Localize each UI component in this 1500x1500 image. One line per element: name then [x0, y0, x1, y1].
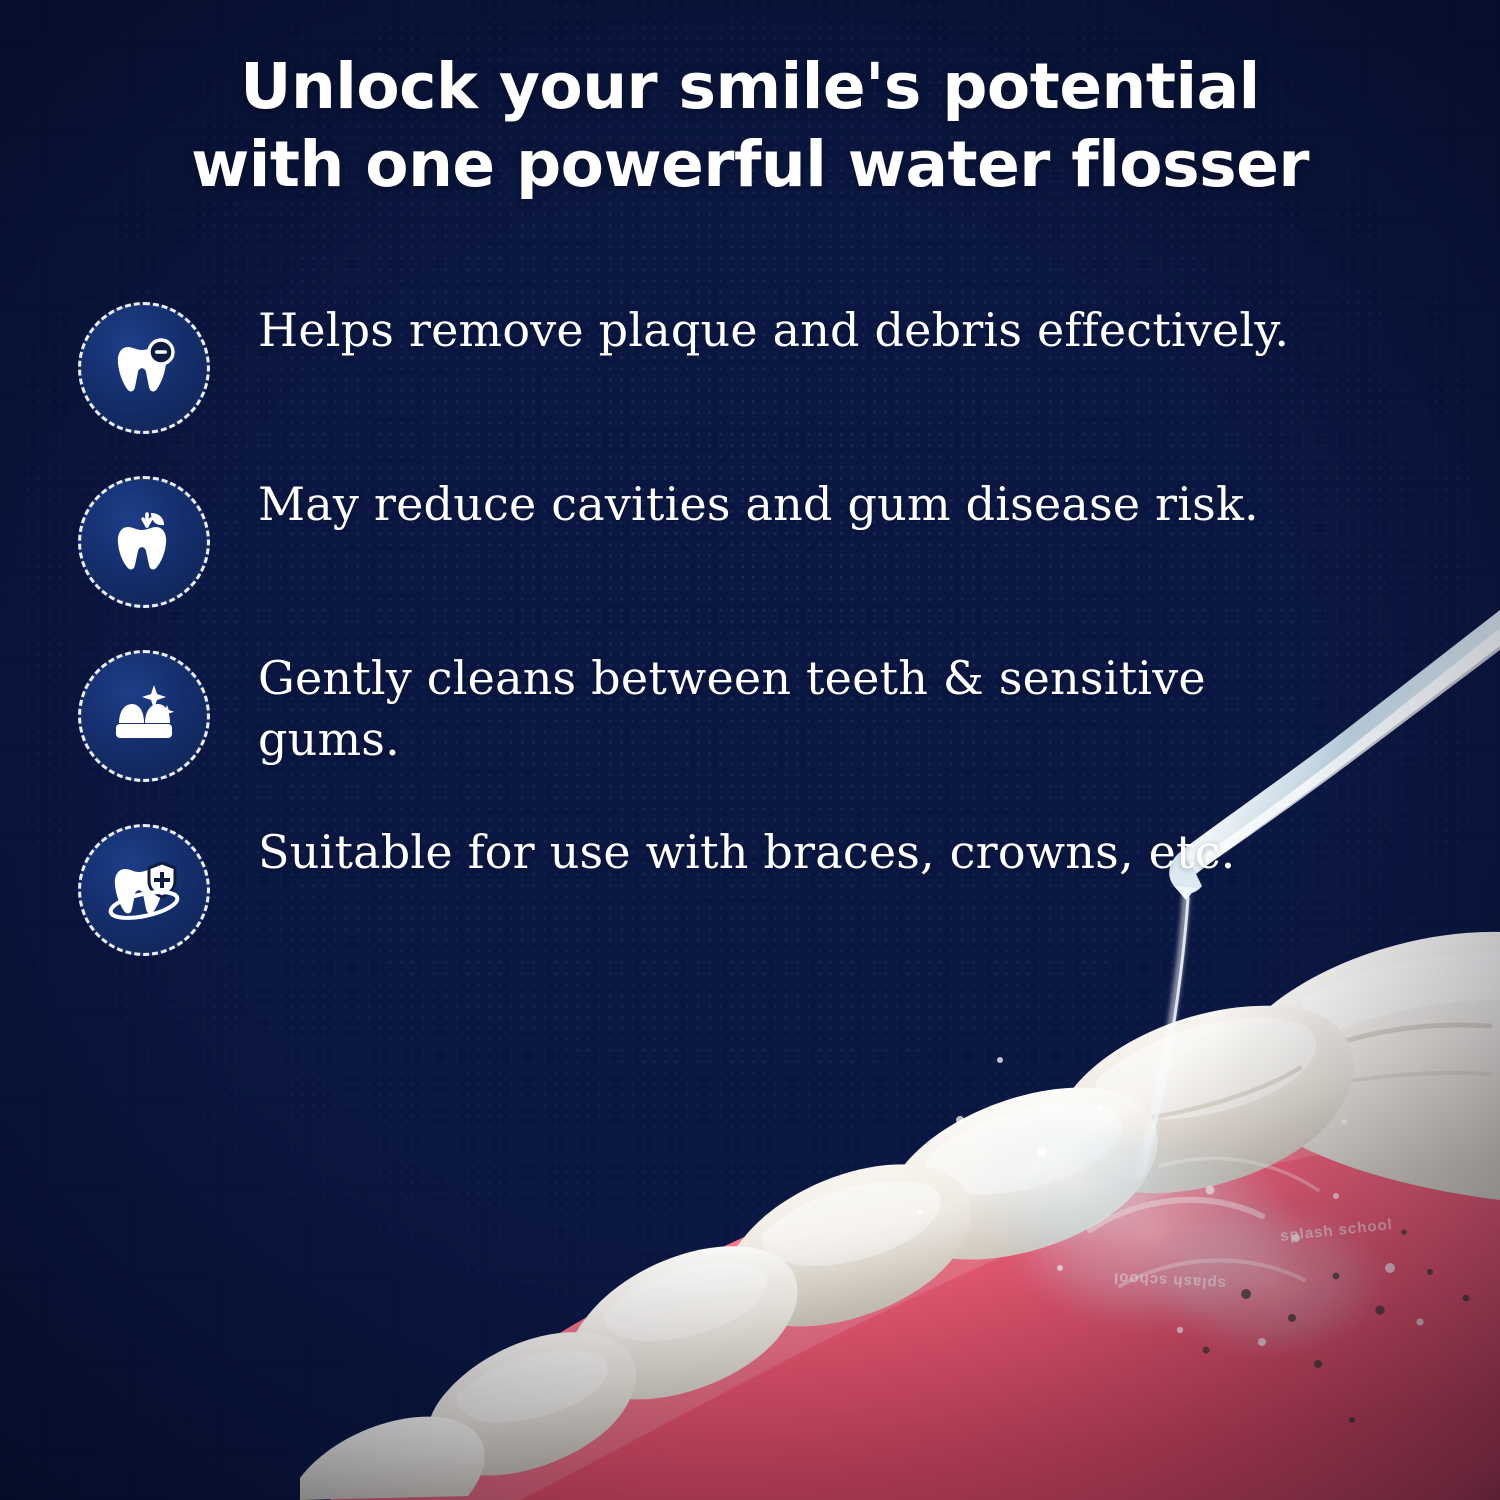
feature-label: Gently cleans between teeth & sensitive …	[258, 648, 1358, 770]
watermark-text: splash school	[1113, 1269, 1227, 1292]
page-title: Unlock your smile's potential with one p…	[0, 48, 1500, 204]
headline-line-2: with one powerful water flosser	[0, 126, 1500, 204]
tooth-cavity-protection-icon	[78, 476, 210, 608]
list-item: May reduce cavities and gum disease risk…	[78, 470, 1368, 644]
list-item: Helps remove plaque and debris effective…	[78, 296, 1368, 470]
list-item: Suitable for use with braces, crowns, et…	[78, 818, 1368, 992]
promotional-banner: splash school splash school Unlock your …	[0, 0, 1500, 1500]
feature-label: Suitable for use with braces, crowns, et…	[258, 822, 1358, 883]
teeth-gums-sparkle-icon	[78, 650, 210, 782]
feature-label: May reduce cavities and gum disease risk…	[258, 474, 1358, 535]
tooth-plaque-removal-icon	[78, 302, 210, 434]
feature-label: Helps remove plaque and debris effective…	[258, 300, 1358, 361]
headline-line-1: Unlock your smile's potential	[240, 50, 1259, 123]
list-item: Gently cleans between teeth & sensitive …	[78, 644, 1368, 818]
watermark-text: splash school	[1279, 1216, 1393, 1245]
feature-list: Helps remove plaque and debris effective…	[78, 296, 1368, 992]
tooth-shield-braces-icon	[78, 824, 210, 956]
